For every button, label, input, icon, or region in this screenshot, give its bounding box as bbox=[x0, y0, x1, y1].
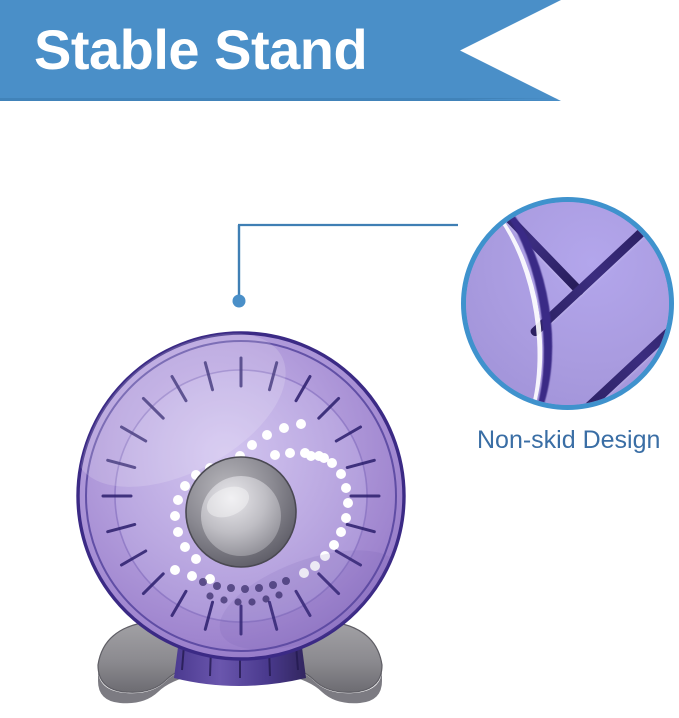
wheel-hub bbox=[186, 457, 296, 567]
callout-anchor-dot bbox=[233, 295, 246, 308]
magnified-detail-inset bbox=[461, 197, 674, 410]
groove-line bbox=[641, 373, 674, 410]
inset-caption: Non-skid Design bbox=[477, 424, 660, 456]
header-banner: Stable Stand bbox=[0, 0, 561, 101]
inset-surface-texture bbox=[466, 202, 669, 405]
inset-circle-border bbox=[461, 197, 674, 410]
page-title: Stable Stand bbox=[34, 6, 367, 94]
product-photo-exercise-wheel bbox=[60, 320, 420, 710]
callout-leader-line bbox=[230, 215, 470, 315]
groove-line bbox=[573, 279, 674, 410]
